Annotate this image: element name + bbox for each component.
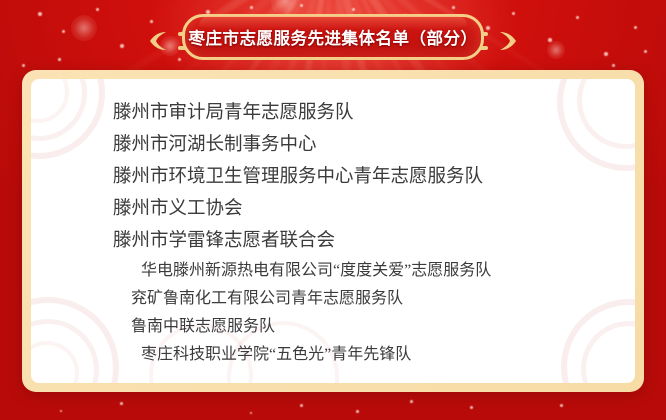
sparkle — [300, 4, 303, 7]
content-card: 滕州市审计局青年志愿服务队 滕州市河湖长制事务中心 滕州市环境卫生管理服务中心青… — [22, 70, 644, 392]
poster-title: 枣庄市志愿服务先进集体名单（部分） — [189, 25, 478, 49]
list-item: 兖矿鲁南化工有限公司青年志愿服务队 — [31, 285, 635, 313]
sparkle — [470, 406, 473, 409]
sparkle — [352, 8, 355, 11]
sparkle — [96, 8, 99, 11]
sparkle — [410, 400, 413, 403]
list-item: 鲁南中联志愿服务队 — [31, 313, 635, 341]
sparkle — [452, 6, 455, 9]
sparkle — [300, 404, 303, 407]
honoree-list: 滕州市审计局青年志愿服务队 滕州市河湖长制事务中心 滕州市环境卫生管理服务中心青… — [31, 79, 635, 369]
list-item: 枣庄科技职业学院“五色光”青年先锋队 — [31, 341, 635, 369]
sparkle — [250, 412, 252, 414]
list-item: 滕州市学雷锋志愿者联合会 — [31, 225, 635, 257]
list-item: 滕州市审计局青年志愿服务队 — [31, 97, 635, 129]
list-item: 滕州市义工协会 — [31, 193, 635, 225]
poster-root: 枣庄市志愿服务先进集体名单（部分） 滕州市审计局青年志愿服务队 滕州市河湖长制事… — [0, 0, 666, 420]
title-banner: 枣庄市志愿服务先进集体名单（部分） — [0, 14, 666, 60]
sparkle — [120, 402, 123, 405]
sparkle — [356, 410, 359, 413]
sparkle — [22, 64, 25, 67]
list-item: 滕州市河湖长制事务中心 — [31, 129, 635, 161]
sparkle — [60, 410, 62, 412]
title-banner-pill: 枣庄市志愿服务先进集体名单（部分） — [182, 14, 484, 60]
content-card-inner: 滕州市审计局青年志愿服务队 滕州市河湖长制事务中心 滕州市环境卫生管理服务中心青… — [31, 79, 635, 383]
sparkle — [560, 404, 563, 407]
list-item: 滕州市环境卫生管理服务中心青年志愿服务队 — [31, 161, 635, 193]
list-item: 华电滕州新源热电有限公司“度度关爱”志愿服务队 — [31, 257, 635, 285]
sparkle — [250, 6, 253, 9]
sparkle — [612, 64, 615, 67]
